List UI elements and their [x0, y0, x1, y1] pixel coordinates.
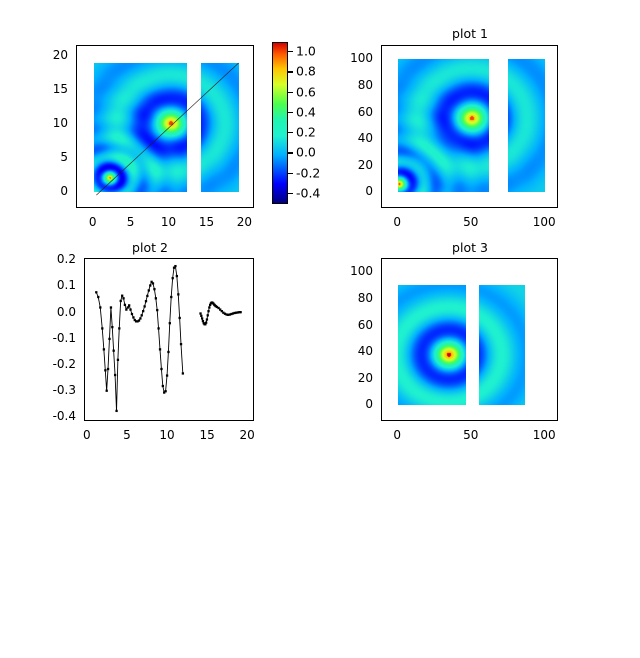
y-tick-label: 60: [327, 318, 373, 332]
x-major-tick: [245, 207, 246, 208]
colorbar-tick: [287, 193, 293, 194]
x-major-tick: [398, 207, 399, 208]
x-minor-tick: [124, 207, 125, 208]
x-minor-tick: [176, 420, 177, 421]
x-minor-tick: [208, 420, 209, 421]
y-tick-label: 0.0: [30, 305, 76, 319]
x-minor-tick: [128, 420, 129, 421]
y-tick-label: 60: [327, 105, 373, 119]
overlay-diagonal-ray: [77, 46, 253, 207]
x-minor-tick: [200, 420, 201, 421]
x-tick-label: 50: [463, 428, 478, 442]
y-minor-tick: [381, 312, 382, 313]
y-minor-tick: [381, 392, 382, 393]
colorbar-top-left: 1.00.80.60.40.20.0-0.2-0.4: [272, 42, 288, 204]
y-major-tick: [381, 86, 382, 87]
panel-top-right: plot 1 1.00.80.60.40.20.0-0.2-0.4 050100…: [320, 0, 640, 240]
colorbar-tick-label: -0.2: [296, 165, 320, 180]
x-minor-tick: [428, 207, 429, 208]
x-minor-tick: [545, 420, 546, 421]
x-major-tick: [208, 420, 209, 421]
panel-top-left: 1.00.80.60.40.20.0-0.2-0.4 0510152005101…: [0, 0, 320, 240]
x-minor-tick: [86, 207, 87, 208]
colorbar-tick-label: 0.0: [296, 145, 316, 160]
x-minor-tick: [428, 420, 429, 421]
x-minor-tick: [383, 420, 384, 421]
x-minor-tick: [104, 420, 105, 421]
x-minor-tick: [398, 207, 399, 208]
y-minor-tick: [381, 206, 382, 207]
colorbar-tick: [287, 71, 293, 72]
y-minor-tick: [381, 339, 382, 340]
x-minor-tick: [96, 420, 97, 421]
axes-bottom-right[interactable]: [381, 258, 558, 421]
x-minor-tick: [79, 207, 80, 208]
y-major-tick: [381, 113, 382, 114]
y-major-tick: [381, 299, 382, 300]
line-plot-series: [85, 259, 253, 420]
x-minor-tick: [240, 420, 241, 421]
x-minor-tick: [457, 207, 458, 208]
y-major-tick: [381, 326, 382, 327]
axes-bottom-left[interactable]: [84, 258, 254, 421]
heatmap-patch-left: [398, 285, 466, 405]
y-tick-label: -0.2: [30, 357, 76, 371]
x-minor-tick: [398, 420, 399, 421]
x-minor-tick: [185, 207, 186, 208]
x-major-tick: [207, 207, 208, 208]
y-tick-label: 0: [327, 184, 373, 198]
y-major-tick: [381, 405, 382, 406]
colorbar-tick-label: 0.4: [296, 104, 316, 119]
y-minor-tick: [381, 126, 382, 127]
y-tick-label: 15: [22, 82, 68, 96]
colorbar-tick: [287, 152, 293, 153]
colorbar-tick: [287, 112, 293, 113]
x-major-tick: [88, 420, 89, 421]
y-tick-label: 20: [22, 48, 68, 62]
x-minor-tick: [531, 207, 532, 208]
colorbar-tick-label: 0.8: [296, 64, 316, 79]
colorbar-tick: [287, 132, 293, 133]
x-tick-label: 0: [393, 215, 401, 229]
series-markers-trace-segment-1: [95, 265, 184, 412]
x-minor-tick: [253, 207, 254, 208]
y-minor-tick: [381, 365, 382, 366]
x-minor-tick: [101, 207, 102, 208]
x-minor-tick: [472, 420, 473, 421]
x-major-tick: [168, 420, 169, 421]
x-minor-tick: [413, 207, 414, 208]
x-minor-tick: [442, 420, 443, 421]
y-major-tick: [381, 139, 382, 140]
heatmap-patch-right: [508, 59, 545, 192]
x-minor-tick: [248, 420, 249, 421]
y-minor-tick: [381, 419, 382, 420]
x-minor-tick: [472, 207, 473, 208]
x-minor-tick: [215, 207, 216, 208]
y-tick-label: 10: [22, 116, 68, 130]
y-tick-label: -0.4: [30, 409, 76, 423]
series-markers-trace-segment-2: [199, 301, 241, 325]
x-minor-tick: [232, 420, 233, 421]
colorbar-tick: [287, 92, 293, 93]
x-minor-tick: [457, 420, 458, 421]
y-tick-label: -0.1: [30, 331, 76, 345]
x-major-tick: [248, 420, 249, 421]
y-major-tick: [381, 166, 382, 167]
x-minor-tick: [136, 420, 137, 421]
x-minor-tick: [109, 207, 110, 208]
x-tick-label: 50: [463, 215, 478, 229]
y-minor-tick: [381, 73, 382, 74]
y-minor-tick: [381, 99, 382, 100]
x-minor-tick: [486, 420, 487, 421]
colorbar-tick: [287, 51, 293, 52]
x-minor-tick: [144, 420, 145, 421]
x-major-tick: [398, 420, 399, 421]
x-minor-tick: [192, 420, 193, 421]
x-major-tick: [132, 207, 133, 208]
y-tick-label: -0.3: [30, 383, 76, 397]
colorbar-tick-label: 0.2: [296, 125, 316, 140]
x-minor-tick: [94, 207, 95, 208]
x-tick-label: 100: [533, 428, 556, 442]
x-minor-tick: [545, 207, 546, 208]
y-major-tick: [381, 272, 382, 273]
x-minor-tick: [116, 207, 117, 208]
x-minor-tick: [112, 420, 113, 421]
x-minor-tick: [442, 207, 443, 208]
x-minor-tick: [501, 420, 502, 421]
x-minor-tick: [170, 207, 171, 208]
x-minor-tick: [152, 420, 153, 421]
x-minor-tick: [200, 207, 201, 208]
x-major-tick: [170, 207, 171, 208]
x-minor-tick: [413, 420, 414, 421]
x-tick-label: 0: [393, 428, 401, 442]
x-minor-tick: [486, 207, 487, 208]
x-minor-tick: [531, 420, 532, 421]
panel-bottom-right: plot 3 0.80.60.40.20.0-0.2-0.4 050100020…: [320, 240, 640, 480]
y-tick-label: 0.2: [30, 252, 76, 266]
x-minor-tick: [216, 420, 217, 421]
colorbar-tick-label: 1.0: [296, 44, 316, 59]
panel-bottom-right-title: plot 3: [380, 240, 560, 255]
panel-top-right-title: plot 1: [380, 26, 560, 41]
y-tick-label: 80: [327, 291, 373, 305]
x-minor-tick: [192, 207, 193, 208]
axes-top-right[interactable]: [381, 45, 558, 208]
x-minor-tick: [224, 420, 225, 421]
x-minor-tick: [88, 420, 89, 421]
heatmap-patch-left: [398, 59, 489, 192]
x-tick-label: 100: [533, 215, 556, 229]
x-tick-label: 0: [83, 428, 91, 442]
heatmap-patch-right: [479, 285, 525, 405]
x-major-tick: [94, 207, 95, 208]
x-tick-label: 15: [199, 215, 214, 229]
x-minor-tick: [160, 420, 161, 421]
y-minor-tick: [381, 179, 382, 180]
x-major-tick: [545, 207, 546, 208]
x-major-tick: [472, 420, 473, 421]
y-major-tick: [381, 59, 382, 60]
x-minor-tick: [501, 207, 502, 208]
y-tick-label: 40: [327, 131, 373, 145]
x-minor-tick: [223, 207, 224, 208]
x-major-tick: [128, 420, 129, 421]
x-tick-label: 20: [237, 215, 252, 229]
colorbar-tick: [287, 173, 293, 174]
axes-top-left[interactable]: [76, 45, 254, 208]
x-tick-label: 15: [199, 428, 214, 442]
y-tick-label: 5: [22, 150, 68, 164]
x-minor-tick: [120, 420, 121, 421]
y-minor-tick: [381, 152, 382, 153]
y-major-tick: [381, 379, 382, 380]
x-minor-tick: [132, 207, 133, 208]
x-tick-label: 5: [127, 215, 135, 229]
x-minor-tick: [177, 207, 178, 208]
x-tick-label: 0: [89, 215, 97, 229]
x-tick-label: 20: [240, 428, 255, 442]
y-minor-tick: [381, 46, 382, 47]
x-minor-tick: [516, 207, 517, 208]
panel-bottom-left: plot 2 051015200.20.10.0-0.1-0.2-0.3-0.4: [0, 240, 320, 480]
colorbar-tick-label: 0.6: [296, 84, 316, 99]
x-minor-tick: [207, 207, 208, 208]
x-minor-tick: [516, 420, 517, 421]
x-major-tick: [545, 420, 546, 421]
x-minor-tick: [245, 207, 246, 208]
x-minor-tick: [238, 207, 239, 208]
y-tick-label: 40: [327, 344, 373, 358]
y-tick-label: 20: [327, 371, 373, 385]
x-minor-tick: [162, 207, 163, 208]
x-minor-tick: [230, 207, 231, 208]
y-tick-label: 0: [22, 184, 68, 198]
x-minor-tick: [154, 207, 155, 208]
x-major-tick: [472, 207, 473, 208]
y-tick-label: 0.1: [30, 278, 76, 292]
y-tick-label: 0: [327, 397, 373, 411]
panel-bottom-left-title: plot 2: [60, 240, 240, 255]
y-tick-label: 20: [327, 158, 373, 172]
x-minor-tick: [168, 420, 169, 421]
y-minor-tick: [381, 259, 382, 260]
colorbar-tick-label: -0.4: [296, 185, 320, 200]
x-tick-label: 5: [123, 428, 131, 442]
y-tick-label: 80: [327, 78, 373, 92]
y-major-tick: [381, 352, 382, 353]
y-minor-tick: [381, 286, 382, 287]
figure-canvas: 1.00.80.60.40.20.0-0.2-0.4 0510152005101…: [0, 0, 640, 480]
y-major-tick: [381, 192, 382, 193]
y-tick-label: 100: [327, 264, 373, 278]
x-minor-tick: [147, 207, 148, 208]
x-minor-tick: [383, 207, 384, 208]
x-minor-tick: [139, 207, 140, 208]
x-tick-label: 10: [159, 428, 174, 442]
x-minor-tick: [184, 420, 185, 421]
x-tick-label: 10: [161, 215, 176, 229]
y-tick-label: 100: [327, 51, 373, 65]
